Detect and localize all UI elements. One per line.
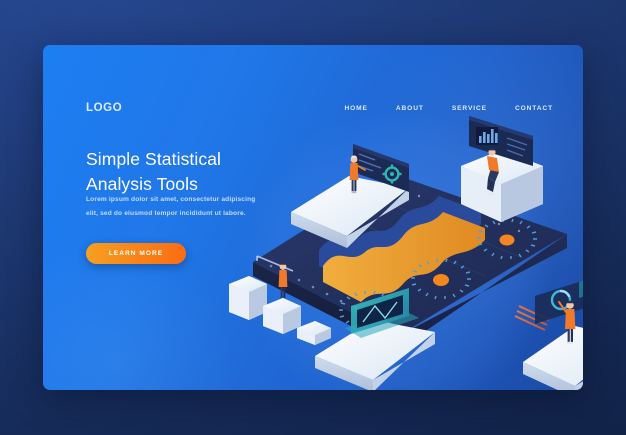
hero-headline-line1: Simple Statistical — [86, 149, 221, 169]
card-glow-tertiary — [43, 245, 243, 390]
hero-body-line2: elit, sed do eiusmod tempor incididunt u… — [86, 210, 246, 217]
platform-monitor-cube — [461, 116, 543, 222]
screenshot-root: LOGO HOME ABOUT SERVICE CONTACT Simple S… — [0, 0, 626, 435]
hero-headline-line2: Analysis Tools — [86, 174, 198, 194]
hero-card: LOGO HOME ABOUT SERVICE CONTACT Simple S… — [43, 45, 583, 390]
circular-touch-interface — [535, 270, 583, 324]
site-logo[interactable]: LOGO — [86, 102, 122, 114]
learn-more-button[interactable]: LEARN MORE — [86, 243, 186, 264]
platform-touch-interface — [523, 270, 583, 390]
isometric-illustration — [223, 100, 583, 390]
